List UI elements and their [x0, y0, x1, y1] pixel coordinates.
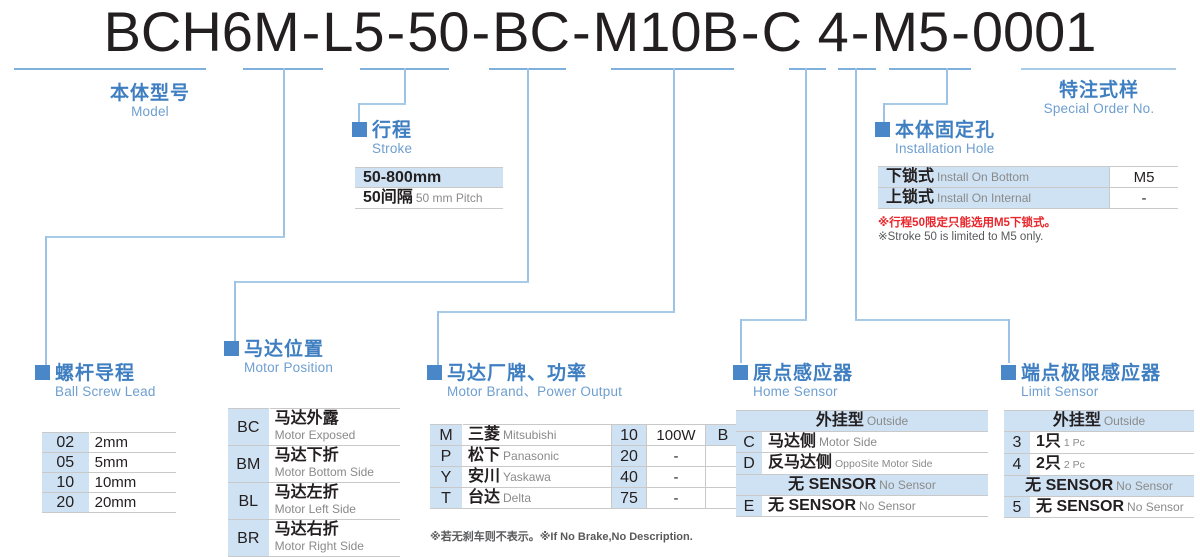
table-row: 下锁式Install On Bottom M5	[878, 167, 1178, 188]
brand-en: Mitsubishi	[500, 428, 556, 442]
code-separator: -	[849, 2, 872, 62]
connector-home-sensor-h	[740, 319, 807, 321]
motor-position-value: 马达左折 Motor Left Side	[269, 483, 400, 520]
home-sensor-cn: 反马达侧	[768, 454, 832, 471]
table-row: 上锁式Install On Internal -	[878, 188, 1178, 209]
connector-stroke-v1	[404, 68, 406, 104]
motor-position-en: Motor Right Side	[275, 538, 395, 555]
install-hole-en: Install On Internal	[934, 191, 1031, 205]
home-sensor-en: No Sensor	[856, 499, 916, 513]
lead-code: 05	[42, 453, 89, 473]
lead-code: 02	[42, 433, 89, 453]
table-row: 50-800mm	[355, 168, 503, 188]
home-sensor-band-cn: 外挂型	[816, 412, 864, 429]
stroke-pitch-cn: 50间隔	[363, 189, 413, 206]
table-row: 20 20mm	[42, 493, 176, 513]
lead-value: 2mm	[89, 433, 176, 453]
install-hole-label: 下锁式Install On Bottom	[878, 167, 1110, 188]
home-sensor-value: 无 SENSORNo Sensor	[763, 496, 989, 517]
connector-model-h	[45, 236, 285, 238]
code-separator: -	[570, 2, 593, 62]
limit-sensor-en: 2 Pc	[1061, 459, 1085, 471]
power-code: 40	[612, 467, 647, 488]
table-row: 4 2只2 Pc	[1004, 454, 1194, 476]
table-row: P 松下Panasonic 20 -	[430, 446, 740, 467]
code-segment-limit-sensor: 4	[818, 2, 849, 62]
connector-motor-position-h	[234, 281, 529, 283]
code-underline-limit-sensor	[838, 68, 876, 70]
install-hole-cn: 上锁式	[886, 189, 934, 206]
install-hole-value: M5	[1110, 167, 1179, 188]
table-home-sensor: 外挂型Outside C 马达侧Motor Side D 反马达侧OppoSit…	[736, 410, 988, 517]
limit-sensor-cn: 无 SENSOR	[1036, 498, 1124, 515]
brand-cn: 台达	[468, 489, 500, 506]
lead-value: 20mm	[89, 493, 176, 513]
code-underline-special-order	[1021, 68, 1176, 70]
connector-motor-position-v1	[527, 68, 529, 283]
table-row: T 台达Delta 75 -	[430, 488, 740, 509]
section-special-order-title-en: Special Order No.	[1008, 101, 1190, 117]
limit-sensor-code: 4	[1004, 454, 1031, 476]
home-sensor-band-en: Outside	[864, 414, 908, 428]
connector-model-v2	[45, 236, 47, 368]
table-row: BL 马达左折 Motor Left Side	[228, 483, 400, 520]
section-stroke-title-en: Stroke	[352, 141, 412, 157]
section-home-sensor: 原点感应器 Home Sensor	[733, 363, 853, 400]
section-home-sensor-title-en: Home Sensor	[733, 384, 853, 400]
power-code: 20	[612, 446, 647, 467]
brand-name: 台达Delta	[463, 488, 612, 509]
table-row: D 反马达侧OppoSite Motor Side	[736, 453, 988, 475]
section-ball-screw-lead: 螺杆导程 Ball Screw Lead	[35, 363, 156, 400]
home-sensor-code: E	[736, 496, 763, 517]
connector-limit-sensor-h	[855, 319, 1010, 321]
section-motor-position: 马达位置 Motor Position	[224, 339, 333, 376]
code-underline-home-sensor	[789, 68, 826, 70]
table-row: 50间隔50 mm Pitch	[355, 188, 503, 209]
table-installation-hole: 下锁式Install On Bottom M5 上锁式Install On In…	[878, 166, 1178, 209]
table-ball-screw-lead: 02 2mm 05 5mm 10 10mm 20 20mm	[42, 432, 176, 513]
section-installation-hole: 本体固定孔 Installation Hole	[875, 120, 995, 157]
section-special-order: 特注式样 Special Order No.	[1008, 80, 1190, 117]
section-home-sensor-title-cn: 原点感应器	[733, 363, 853, 384]
table-motor-brand: M 三菱Mitsubishi 10 100W B P 松下Panasonic 2…	[430, 424, 740, 509]
brand-code: P	[430, 446, 463, 467]
table-row: Y 安川Yaskawa 40 -	[430, 467, 740, 488]
brand-code: T	[430, 488, 463, 509]
code-segment-model: BCH6M	[104, 2, 300, 62]
table-row: 无 SENSORNo Sensor	[1004, 476, 1194, 497]
install-hole-note: ※行程50限定只能选用M5下锁式。 ※Stroke 50 is limited …	[878, 216, 1056, 244]
stroke-range-value: 50-800mm	[363, 169, 441, 186]
motor-position-en: Motor Bottom Side	[275, 464, 395, 481]
lead-value: 10mm	[89, 473, 176, 493]
motor-position-en: Motor Left Side	[275, 501, 395, 518]
section-limit-sensor-title-en: Limit Sensor	[1001, 384, 1161, 400]
table-row: BR 马达右折 Motor Right Side	[228, 520, 400, 557]
table-row: 5 无 SENSORNo Sensor	[1004, 497, 1194, 518]
connector-model-v1	[283, 68, 285, 236]
brand-name: 松下Panasonic	[463, 446, 612, 467]
table-row: E 无 SENSORNo Sensor	[736, 496, 988, 517]
install-hole-note-en: ※Stroke 50 is limited to M5 only.	[878, 230, 1056, 244]
connector-stroke-h	[358, 103, 406, 105]
connector-motor-brand-h	[437, 311, 675, 313]
connector-motor-brand-v2	[437, 311, 439, 365]
table-row: 05 5mm	[42, 453, 176, 473]
lead-value: 5mm	[89, 453, 176, 473]
table-row: 02 2mm	[42, 433, 176, 453]
motor-position-cn: 马达右折	[275, 521, 395, 538]
bullet-square-icon	[352, 122, 367, 137]
brand-code: Y	[430, 467, 463, 488]
home-sensor-value: 马达侧Motor Side	[763, 432, 989, 453]
section-stroke-title-cn: 行程	[352, 120, 412, 141]
power-value: -	[647, 446, 706, 467]
motor-brand-footnote: ※若无刹车则不表示。※If No Brake,No Description.	[430, 528, 693, 544]
code-separator: -	[949, 2, 972, 62]
table-motor-position: BC 马达外露 Motor Exposed BM 马达下折 Motor Bott…	[228, 408, 400, 557]
install-hole-value: -	[1110, 188, 1179, 209]
power-code: 75	[612, 488, 647, 509]
motor-position-cn: 马达下折	[275, 447, 395, 464]
table-row: 10 10mm	[42, 473, 176, 493]
section-motor-position-title-cn: 马达位置	[224, 339, 333, 360]
table-row: 无 SENSORNo Sensor	[736, 475, 988, 496]
table-limit-sensor: 外挂型Outside 3 1只1 Pc 4 2只2 Pc 无 SENSORNo …	[1004, 410, 1194, 518]
bullet-square-icon	[733, 365, 748, 380]
table-row: C 马达侧Motor Side	[736, 432, 988, 453]
brake-code	[706, 446, 741, 467]
install-hole-note-cn: ※行程50限定只能选用M5下锁式。	[878, 216, 1056, 230]
connector-install-hole-h	[883, 103, 948, 105]
home-sensor-band-nosensor: 无 SENSORNo Sensor	[736, 475, 988, 496]
bullet-square-icon	[1001, 365, 1016, 380]
section-motor-brand: 马达厂牌、功率 Motor Brand、Power Output	[427, 363, 622, 400]
brake-code: B	[706, 425, 741, 446]
install-hole-cn: 下锁式	[886, 168, 934, 185]
brand-code: M	[430, 425, 463, 446]
code-segment-special-order: 0001	[972, 2, 1097, 62]
section-motor-brand-title-cn: 马达厂牌、功率	[427, 363, 622, 384]
table-row: 3 1只1 Pc	[1004, 432, 1194, 454]
bullet-square-icon	[35, 365, 50, 380]
power-code: 10	[612, 425, 647, 446]
home-sensor-cn: 马达侧	[768, 433, 816, 450]
limit-sensor-band-en: Outside	[1101, 414, 1145, 428]
code-separator: -	[739, 2, 762, 62]
limit-sensor-band2-cn: 无 SENSOR	[1025, 477, 1113, 494]
section-install-hole-title-cn: 本体固定孔	[875, 120, 995, 141]
connector-home-sensor-v1	[805, 68, 807, 320]
power-value: -	[647, 467, 706, 488]
section-model-title-en: Model	[55, 104, 245, 120]
motor-position-code: BR	[228, 520, 269, 557]
limit-sensor-value: 2只2 Pc	[1031, 454, 1195, 476]
section-model: 本体型号 Model	[55, 83, 245, 120]
section-lead-title-en: Ball Screw Lead	[35, 384, 156, 400]
code-underline-model	[14, 68, 206, 70]
connector-motor-brand-v1	[673, 68, 675, 312]
motor-position-value: 马达右折 Motor Right Side	[269, 520, 400, 557]
code-separator: -	[300, 2, 323, 62]
limit-sensor-value: 1只1 Pc	[1031, 432, 1195, 454]
motor-position-en: Motor Exposed	[275, 427, 395, 444]
stroke-pitch-cell: 50间隔50 mm Pitch	[355, 188, 503, 209]
stroke-pitch-en: 50 mm Pitch	[413, 191, 483, 205]
connector-install-hole-v1	[946, 68, 948, 104]
brand-cn: 三菱	[468, 426, 500, 443]
brake-code	[706, 467, 741, 488]
limit-sensor-cn: 1只	[1036, 433, 1061, 450]
section-motor-brand-title-en: Motor Brand、Power Output	[427, 384, 622, 400]
brand-name: 安川Yaskawa	[463, 467, 612, 488]
limit-sensor-band-nosensor: 无 SENSORNo Sensor	[1004, 476, 1194, 497]
section-stroke: 行程 Stroke	[352, 120, 412, 157]
section-special-order-title-cn: 特注式样	[1008, 80, 1190, 101]
code-segment-home-sensor: C	[762, 2, 802, 62]
bullet-square-icon	[875, 122, 890, 137]
home-sensor-code: D	[736, 453, 763, 475]
section-install-hole-title-en: Installation Hole	[875, 141, 995, 157]
limit-sensor-band2-en: No Sensor	[1113, 479, 1173, 493]
connector-limit-sensor-v1	[855, 68, 857, 320]
model-code-line: BCH6M-L5-50-BC-M10B-C 4-M5-0001	[0, 2, 1200, 62]
connector-home-sensor-v2	[740, 319, 742, 363]
limit-sensor-code: 3	[1004, 432, 1031, 454]
limit-sensor-band-outside: 外挂型Outside	[1004, 411, 1194, 432]
home-sensor-band2-en: No Sensor	[876, 478, 936, 492]
table-row: 外挂型Outside	[1004, 411, 1194, 432]
connector-limit-sensor-v2	[1008, 319, 1010, 363]
brand-name: 三菱Mitsubishi	[463, 425, 612, 446]
motor-position-code: BL	[228, 483, 269, 520]
connector-motor-position-v2	[234, 281, 236, 344]
lead-code: 10	[42, 473, 89, 493]
table-stroke: 50-800mm 50间隔50 mm Pitch	[355, 167, 503, 209]
brake-code	[706, 488, 741, 509]
power-value: -	[647, 488, 706, 509]
home-sensor-en: Motor Side	[816, 435, 877, 449]
motor-position-code: BM	[228, 446, 269, 483]
install-hole-label: 上锁式Install On Internal	[878, 188, 1110, 209]
code-segment-stroke: 50	[407, 2, 469, 62]
brand-cn: 安川	[468, 468, 500, 485]
limit-sensor-band-cn: 外挂型	[1053, 412, 1101, 429]
home-sensor-cn: 无 SENSOR	[768, 497, 856, 514]
limit-sensor-code: 5	[1004, 497, 1031, 518]
bullet-square-icon	[224, 341, 239, 356]
code-segment-install-hole: M5	[871, 2, 949, 62]
home-sensor-value: 反马达侧OppoSite Motor Side	[763, 453, 989, 475]
code-underline-install-hole	[889, 68, 971, 70]
table-row: BC 马达外露 Motor Exposed	[228, 409, 400, 446]
motor-position-cn: 马达左折	[275, 484, 395, 501]
table-row: 外挂型Outside	[736, 411, 988, 432]
code-segment-lead: L5	[322, 2, 384, 62]
code-segment-motor-position: BC	[492, 2, 570, 62]
table-row: M 三菱Mitsubishi 10 100W B	[430, 425, 740, 446]
code-separator: -	[385, 2, 408, 62]
code-segment-motor-brand: M10B	[593, 2, 739, 62]
limit-sensor-cn: 2只	[1036, 455, 1061, 472]
section-limit-sensor: 端点极限感应器 Limit Sensor	[1001, 363, 1161, 400]
home-sensor-band2-cn: 无 SENSOR	[788, 476, 876, 493]
section-limit-sensor-title-cn: 端点极限感应器	[1001, 363, 1161, 384]
code-separator: -	[470, 2, 493, 62]
brand-en: Yaskawa	[500, 470, 551, 484]
motor-position-value: 马达下折 Motor Bottom Side	[269, 446, 400, 483]
section-motor-position-title-en: Motor Position	[224, 360, 333, 376]
home-sensor-code: C	[736, 432, 763, 453]
section-model-title-cn: 本体型号	[55, 83, 245, 104]
diagram-canvas: BCH6M-L5-50-BC-M10B-C 4-M5-0001 本体型号 Mod…	[0, 0, 1200, 549]
lead-code: 20	[42, 493, 89, 513]
install-hole-en: Install On Bottom	[934, 170, 1029, 184]
bullet-square-icon	[427, 365, 442, 380]
section-lead-title-cn: 螺杆导程	[35, 363, 156, 384]
limit-sensor-value: 无 SENSORNo Sensor	[1031, 497, 1195, 518]
motor-position-cn: 马达外露	[275, 410, 395, 427]
motor-position-code: BC	[228, 409, 269, 446]
motor-position-value: 马达外露 Motor Exposed	[269, 409, 400, 446]
power-value: 100W	[647, 425, 706, 446]
home-sensor-band-outside: 外挂型Outside	[736, 411, 988, 432]
brand-en: Delta	[500, 491, 531, 505]
limit-sensor-en: 1 Pc	[1061, 437, 1085, 449]
brand-cn: 松下	[468, 447, 500, 464]
stroke-range-cell: 50-800mm	[355, 168, 503, 188]
limit-sensor-en: No Sensor	[1124, 500, 1184, 514]
table-row: BM 马达下折 Motor Bottom Side	[228, 446, 400, 483]
brand-en: Panasonic	[500, 449, 559, 463]
home-sensor-en: OppoSite Motor Side	[832, 458, 932, 470]
